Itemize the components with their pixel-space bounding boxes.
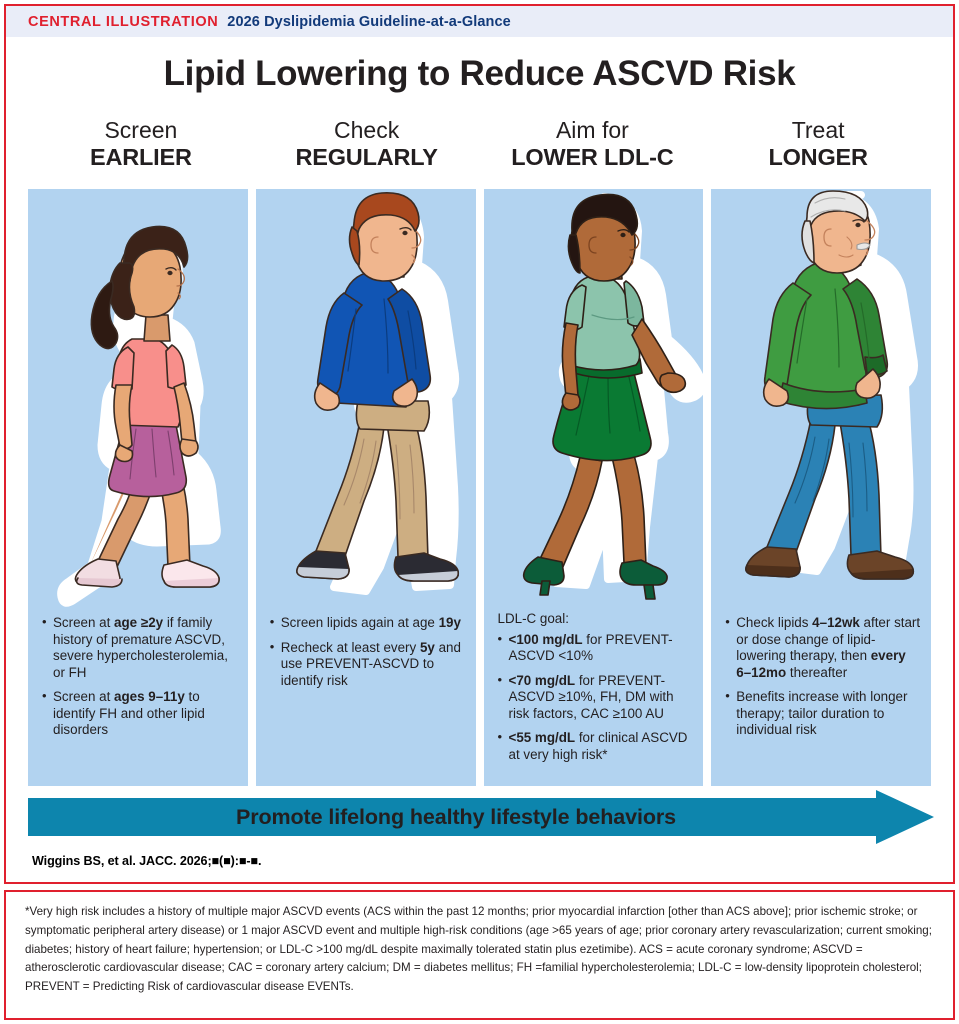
arrow-shape <box>28 790 934 844</box>
bullets: Screen lipids again at age 19y Recheck a… <box>270 615 466 689</box>
panel-lede: LDL-C goal: <box>498 611 694 628</box>
panel-screen-earlier: Screen at age ≥2y if family history of p… <box>28 189 248 786</box>
column-heading-aim-for-lower-ldl-c: Aim for LOWER LDL-C <box>480 118 706 170</box>
column-heading-bottom: REGULARLY <box>254 144 480 170</box>
list-item: <70 mg/dL for PREVENT-ASCVD ≥10%, FH, DM… <box>498 673 694 723</box>
citation: Wiggins BS, et al. JACC. 2026;■(■):■-■. <box>32 854 261 868</box>
column-heading-top: Treat <box>705 118 931 144</box>
column-heading-top: Check <box>254 118 480 144</box>
panels-row: Screen at age ≥2y if family history of p… <box>28 189 931 786</box>
list-item: <55 mg/dL for clinical ASCVD at very hig… <box>498 730 694 763</box>
bullets: <100 mg/dL for PREVENT-ASCVD <10% <70 mg… <box>498 632 694 764</box>
column-heading-bottom: EARLIER <box>28 144 254 170</box>
column-headings: Screen EARLIER Check REGULARLY Aim for L… <box>28 118 931 170</box>
bullets: Check lipids 4–12wk after start or dose … <box>725 615 921 739</box>
list-item: Recheck at least every 5y and use PREVEN… <box>270 640 466 690</box>
column-heading-screen-earlier: Screen EARLIER <box>28 118 254 170</box>
column-heading-treat-longer: Treat LONGER <box>705 118 931 170</box>
footnote-box: *Very high risk includes a history of mu… <box>4 890 955 1020</box>
page-title: Lipid Lowering to Reduce ASCVD Risk <box>6 54 953 94</box>
panel-treat-longer: Check lipids 4–12wk after start or dose … <box>711 189 931 786</box>
column-heading-bottom: LOWER LDL-C <box>480 144 706 170</box>
list-item: Screen at age ≥2y if family history of p… <box>42 615 238 681</box>
panel-aim-for-lower-ldl-c: LDL-C goal: <100 mg/dL for PREVENT-ASCVD… <box>484 189 704 786</box>
column-heading-top: Aim for <box>480 118 706 144</box>
bullets: Screen at age ≥2y if family history of p… <box>42 615 238 739</box>
footnote-text: *Very high risk includes a history of mu… <box>25 903 939 997</box>
central-illustration-label: CENTRAL ILLUSTRATION <box>28 14 218 30</box>
column-heading-top: Screen <box>28 118 254 144</box>
column-heading-check-regularly: Check REGULARLY <box>254 118 480 170</box>
figure-woman-walking <box>484 189 704 609</box>
figure-older-man-walking <box>711 189 931 609</box>
column-heading-bottom: LONGER <box>705 144 931 170</box>
bullet-list-treat-longer: Check lipids 4–12wk after start or dose … <box>725 611 921 747</box>
list-item: <100 mg/dL for PREVENT-ASCVD <10% <box>498 632 694 665</box>
bullet-list-check-regularly: Screen lipids again at age 19y Recheck a… <box>270 611 466 697</box>
bullet-list-aim-for-lower-ldl-c: LDL-C goal: <100 mg/dL for PREVENT-ASCVD… <box>498 611 694 771</box>
list-item: Screen lipids again at age 19y <box>270 615 466 632</box>
panel-check-regularly: Screen lipids again at age 19y Recheck a… <box>256 189 476 786</box>
figure-young-man-walking <box>256 189 476 609</box>
figure-girl-walking <box>28 189 248 609</box>
list-item: Benefits increase with longer therapy; t… <box>725 689 921 739</box>
header-subtitle: 2026 Dyslipidemia Guideline-at-a-Glance <box>227 14 511 30</box>
header-band: CENTRAL ILLUSTRATION 2026 Dyslipidemia G… <box>6 6 953 38</box>
list-item: Screen at ages 9–11y to identify FH and … <box>42 689 238 739</box>
illustration-card: CENTRAL ILLUSTRATION 2026 Dyslipidemia G… <box>4 4 955 884</box>
list-item: Check lipids 4–12wk after start or dose … <box>725 615 921 681</box>
lifestyle-banner-arrow: Promote lifelong healthy lifestyle behav… <box>28 790 934 844</box>
bullet-list-screen-earlier: Screen at age ≥2y if family history of p… <box>42 611 238 747</box>
central-illustration-page: CENTRAL ILLUSTRATION 2026 Dyslipidemia G… <box>0 0 959 1024</box>
